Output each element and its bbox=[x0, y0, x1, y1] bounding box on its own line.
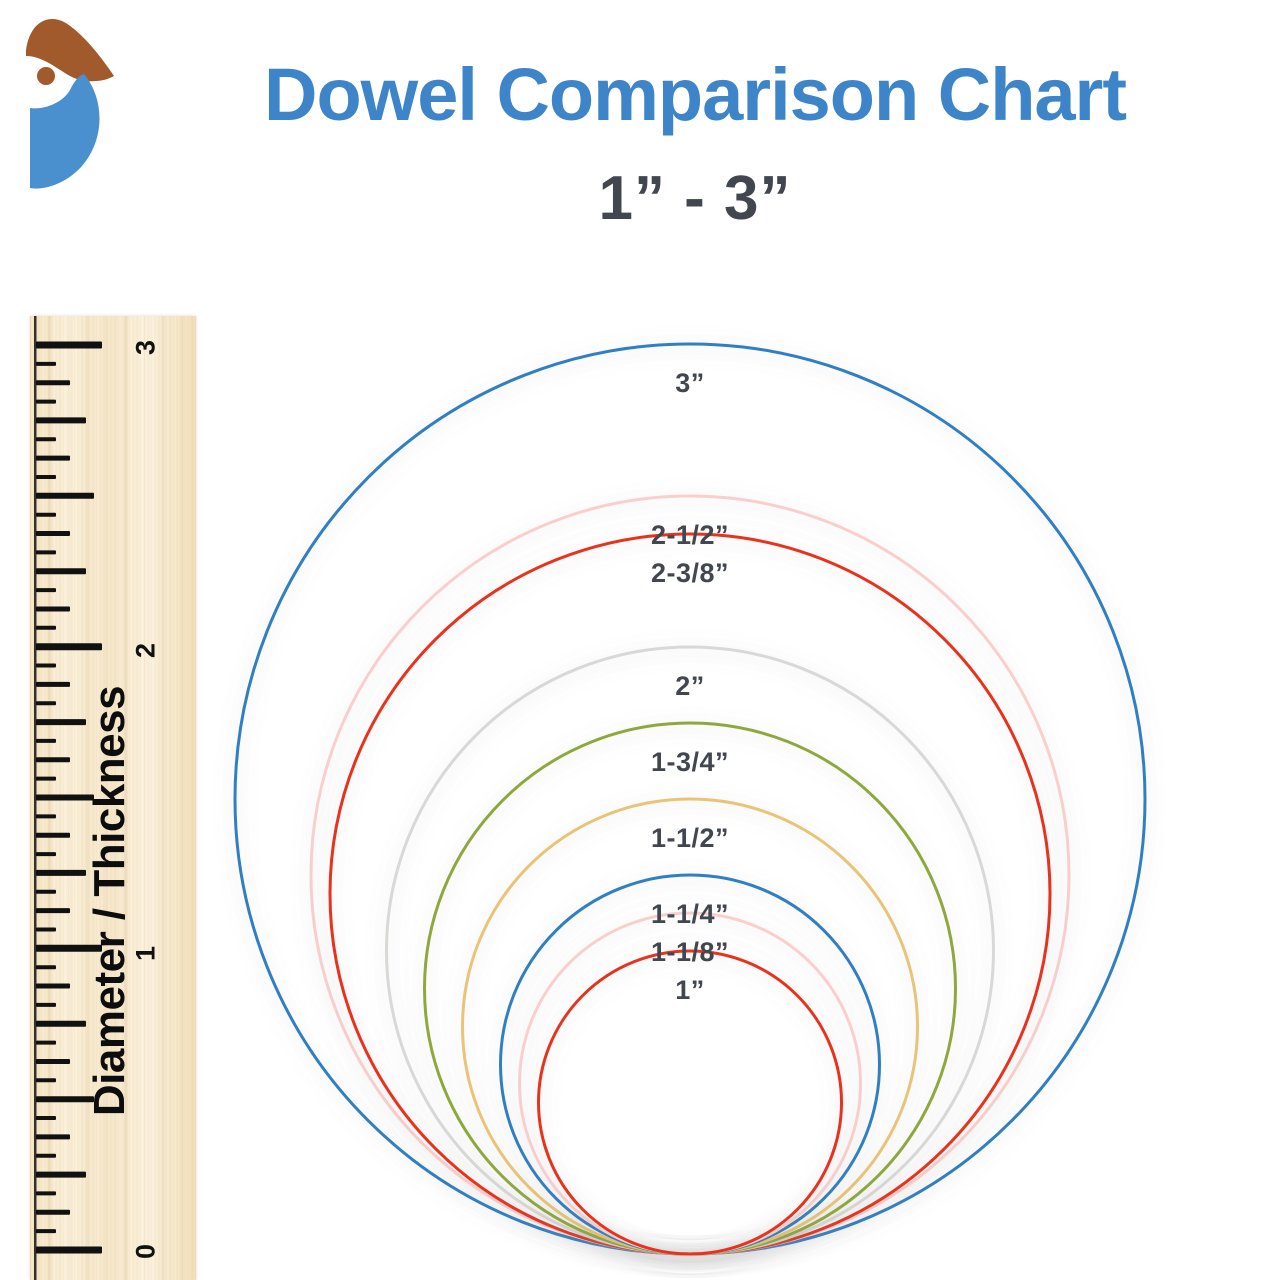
dowel-comparison-chart-page: Dowel Comparison Chart 1” - 3” 3 2 1 0 D… bbox=[0, 0, 1280, 1280]
dowel-label-4: 2” bbox=[675, 671, 705, 702]
dowel-label-5: 1-3/4” bbox=[651, 747, 729, 778]
dowel-label-3: 2-3/8” bbox=[651, 558, 729, 589]
dowel-label-7: 1-1/4” bbox=[651, 899, 729, 930]
dowel-label-1: 3” bbox=[675, 368, 705, 399]
dowel-circles-group bbox=[0, 0, 1280, 1280]
dowel-label-8: 1-1/8” bbox=[651, 937, 729, 968]
dowel-label-2: 2-1/2” bbox=[651, 520, 729, 551]
dowel-label-9: 1” bbox=[675, 975, 705, 1006]
dowel-label-6: 1-1/2” bbox=[651, 823, 729, 854]
